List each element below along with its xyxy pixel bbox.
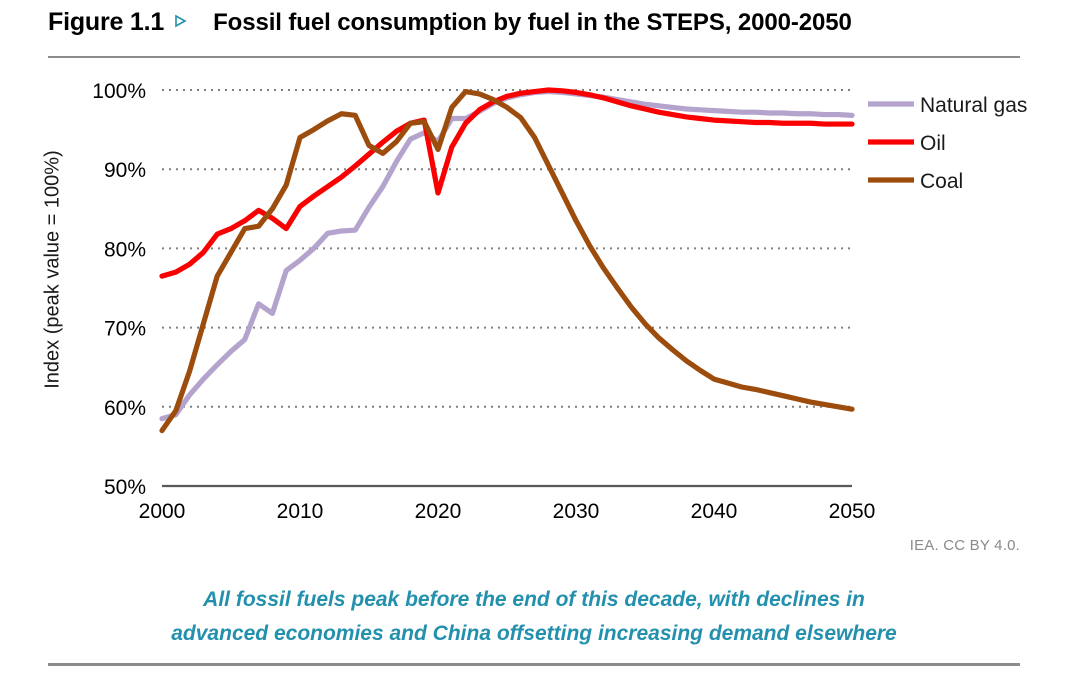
iea-credit: IEA. CC BY 4.0. xyxy=(910,537,1020,554)
y-axis-tick-label: 70% xyxy=(104,318,146,341)
y-axis-tick-label: 60% xyxy=(104,397,146,420)
chart-plot-area: Index (peak value = 100%) 50%60%70%80%90… xyxy=(0,62,1068,532)
legend-label: Oil xyxy=(920,132,946,155)
y-axis-tick-label: 90% xyxy=(104,159,146,182)
figure-header: Figure 1.1 Fossil fuel consumption by fu… xyxy=(48,8,852,37)
footer-divider xyxy=(48,663,1020,666)
y-axis-tick-label: 50% xyxy=(104,476,146,499)
series-line-coal xyxy=(162,92,852,431)
series-line-natural-gas xyxy=(162,92,852,419)
caption-line-2: advanced economies and China offsetting … xyxy=(84,617,984,651)
figure-container: Figure 1.1 Fossil fuel consumption by fu… xyxy=(0,0,1068,677)
x-axis-tick-label: 2010 xyxy=(277,500,324,523)
y-axis-tick-label: 100% xyxy=(92,80,146,103)
x-axis-tick-label: 2050 xyxy=(829,500,876,523)
x-axis-tick-label: 2040 xyxy=(691,500,738,523)
figure-caption: All fossil fuels peak before the end of … xyxy=(84,583,984,651)
triangle-right-icon xyxy=(173,14,187,33)
legend-label: Natural gas xyxy=(920,94,1027,117)
header-divider xyxy=(48,56,1020,58)
y-axis-tick-label: 80% xyxy=(104,238,146,261)
figure-number: Figure 1.1 xyxy=(48,8,164,37)
x-axis-tick-label: 2000 xyxy=(139,500,186,523)
x-axis-tick-label: 2020 xyxy=(415,500,462,523)
x-axis-tick-label: 2030 xyxy=(553,500,600,523)
caption-line-1: All fossil fuels peak before the end of … xyxy=(84,583,984,617)
figure-title: Fossil fuel consumption by fuel in the S… xyxy=(213,9,852,37)
legend-label: Coal xyxy=(920,170,963,193)
line-chart-svg: 50%60%70%80%90%100%200020102020203020402… xyxy=(0,62,1068,532)
y-axis-label: Index (peak value = 100%) xyxy=(42,80,65,460)
